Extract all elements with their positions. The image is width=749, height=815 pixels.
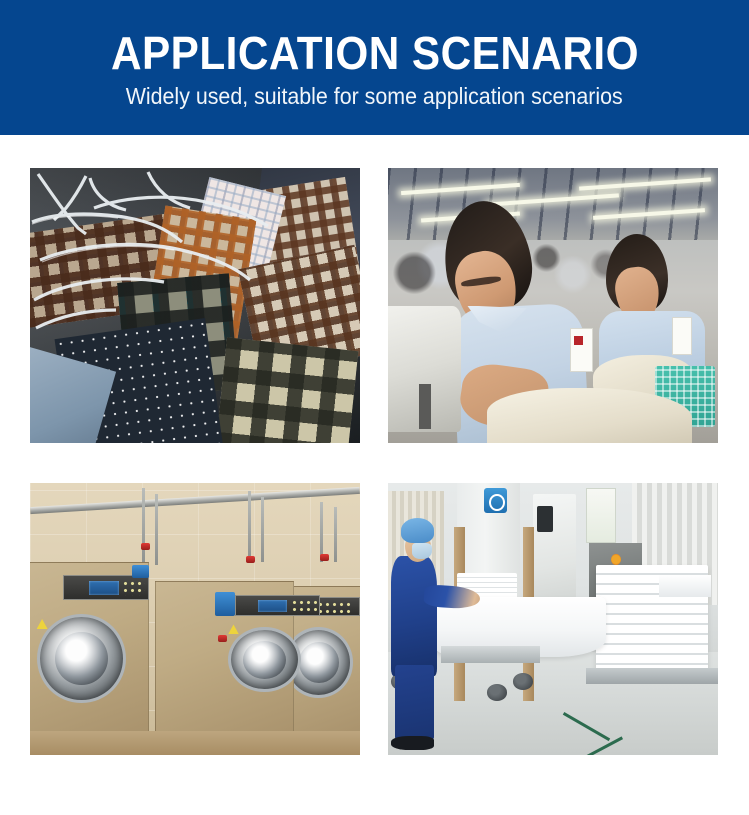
page-title: APPLICATION SCENARIO xyxy=(110,28,638,78)
sewing-production-line-image xyxy=(388,168,718,443)
emergency-stop-button xyxy=(218,635,227,642)
supply-hose xyxy=(334,507,337,561)
folding-table-right xyxy=(586,668,718,684)
red-valve xyxy=(246,556,255,563)
wall-equipment-unit xyxy=(533,494,576,614)
floor-marking xyxy=(562,712,609,741)
application-scenario-page: APPLICATION SCENARIO Widely used, suitab… xyxy=(0,0,749,815)
washer-3-glass xyxy=(299,642,340,683)
washer-2-glass xyxy=(243,641,286,679)
supply-hose xyxy=(248,491,251,562)
photo-plaid-shirts[interactable]: Plaid and checked dress shirts hanging o… xyxy=(30,168,360,443)
worker-scrubs-trousers xyxy=(395,665,435,738)
washer-2-display xyxy=(258,600,288,612)
surgical-cap-icon xyxy=(401,518,434,542)
linen-trolley xyxy=(441,646,540,662)
photo-linen-folding[interactable]: Laundry worker in blue scrubs, cap and m… xyxy=(388,483,718,755)
sewing-machine xyxy=(388,306,461,433)
worker-1-id-badge xyxy=(570,328,593,372)
scenario-image-grid: Plaid and checked dress shirts hanging o… xyxy=(30,168,718,755)
red-valve xyxy=(320,554,329,561)
worker-shoe xyxy=(391,736,434,750)
face-mask-icon xyxy=(412,543,432,559)
supply-hose xyxy=(261,497,264,562)
commercial-laundry-machines-image xyxy=(30,483,360,755)
photo-industrial-washers[interactable]: Row of industrial washer extractor machi… xyxy=(30,483,360,755)
washer-2-door xyxy=(228,627,301,692)
wall-notice-board xyxy=(586,488,616,542)
wall-sign-icon xyxy=(484,488,507,512)
header-banner: APPLICATION SCENARIO Widely used, suitab… xyxy=(0,0,749,135)
washer-1-blue-module xyxy=(132,565,149,579)
supply-hose xyxy=(155,494,158,565)
white-fabric-on-table xyxy=(487,388,692,443)
hospital-linen-folding-image xyxy=(388,483,718,755)
folded-linen-stack-top xyxy=(659,575,712,597)
shirts-on-hangers-image xyxy=(30,168,360,443)
laundry-room-floor xyxy=(30,731,360,755)
cabinet-emblem-icon xyxy=(611,554,621,565)
background-workers xyxy=(388,223,718,306)
washer-1-keypad xyxy=(122,580,145,596)
floor-marking xyxy=(581,736,623,755)
washer-1-display xyxy=(89,581,119,595)
page-subtitle: Widely used, suitable for some applicati… xyxy=(126,81,623,111)
supply-hose xyxy=(142,488,145,564)
red-valve xyxy=(141,543,150,550)
washer-3-keypad xyxy=(317,601,353,614)
worker-2-id-badge xyxy=(672,317,692,356)
washer-2-blue-module xyxy=(215,592,235,616)
supply-hose xyxy=(320,502,323,562)
wire-hanger-icon xyxy=(30,168,360,443)
trolley-caster-wheel xyxy=(513,673,533,689)
washer-1-door xyxy=(37,614,126,704)
trolley-caster-wheel xyxy=(487,684,507,700)
washer-2-keypad xyxy=(291,599,317,613)
washer-1-glass xyxy=(55,632,108,686)
photo-garment-factory[interactable]: Garment factory workers in light blue un… xyxy=(388,168,718,443)
worker-scrubs-top xyxy=(391,556,437,676)
